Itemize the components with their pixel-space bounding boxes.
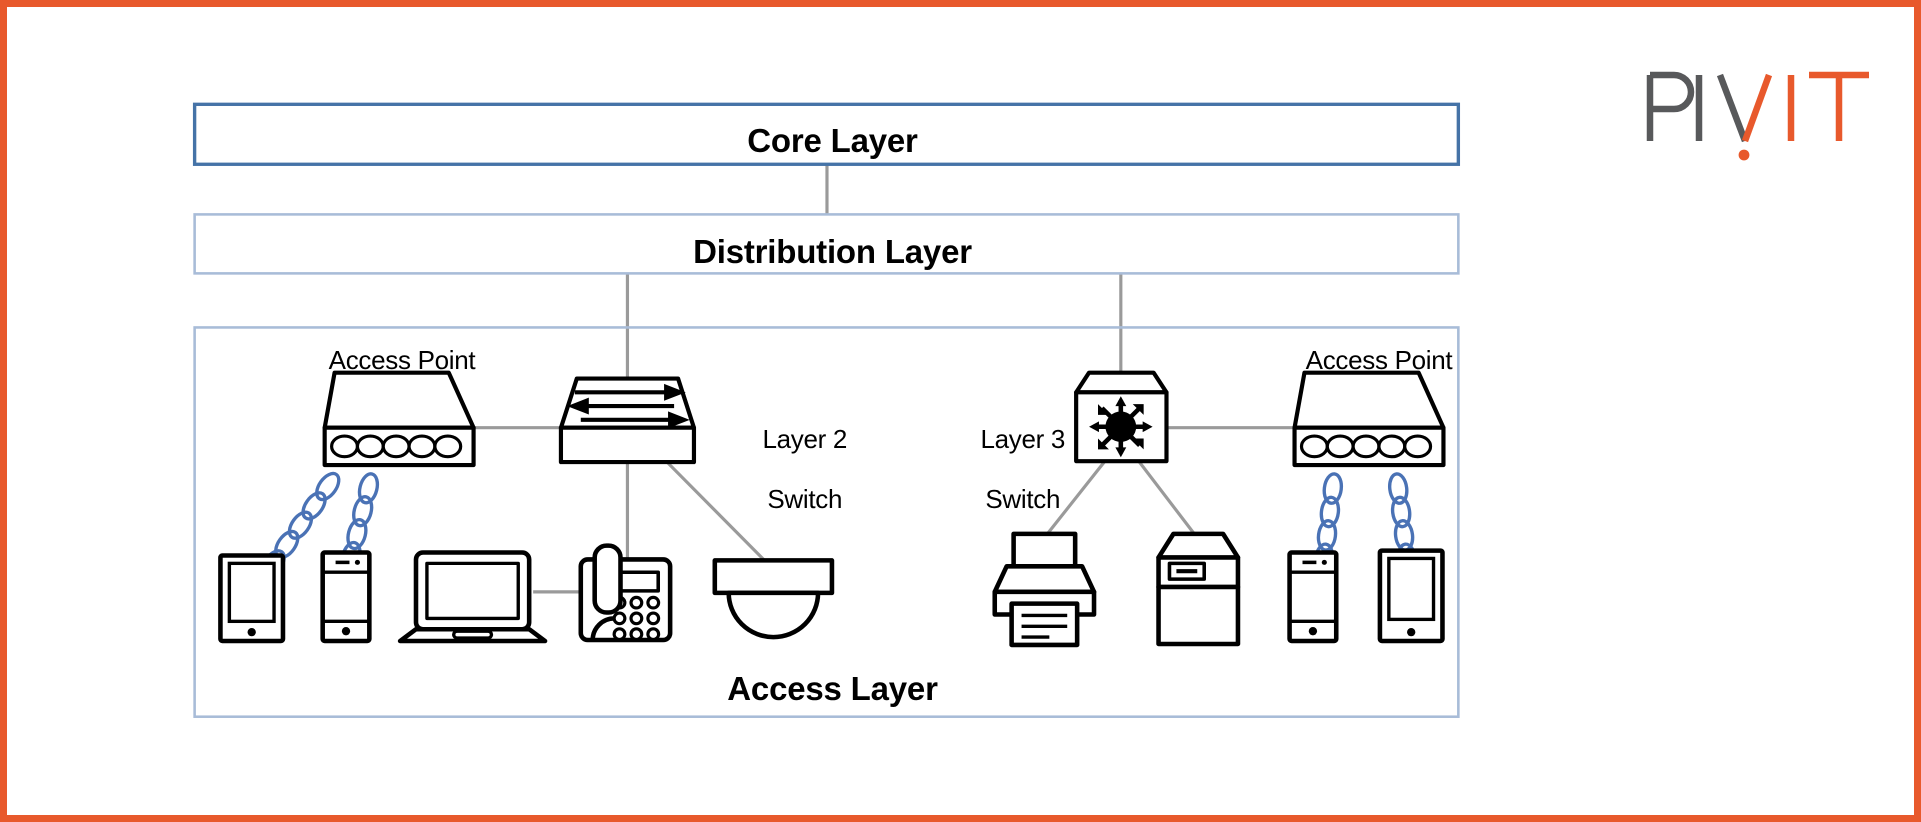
- printer-icon[interactable]: [995, 534, 1094, 645]
- logo-letter-V-right: [1745, 75, 1769, 141]
- layer2-switch-label-line1: Layer 2: [762, 424, 847, 454]
- tablet-icon-right[interactable]: [1380, 551, 1443, 641]
- layer3-switch-label-line1: Layer 3: [980, 424, 1065, 454]
- smartphone-icon-left[interactable]: [323, 553, 370, 641]
- tablet-icon-left[interactable]: [220, 555, 283, 641]
- layer3-switch-label-line2: Switch: [985, 484, 1060, 514]
- pivit-logo[interactable]: [1641, 63, 1891, 163]
- logo-letter-P: [1650, 75, 1691, 141]
- dome-camera-icon[interactable]: [715, 560, 832, 637]
- router-star-icon: [1089, 396, 1153, 457]
- logo-dot: [1739, 150, 1750, 161]
- smartphone-icon-right[interactable]: [1290, 553, 1337, 641]
- link-layer3-server: [1139, 461, 1195, 534]
- diagram-canvas: Core Layer Distribution Layer Access Lay…: [0, 0, 1921, 822]
- layer2-switch-label-line2: Switch: [767, 484, 842, 514]
- access-point-icon-left[interactable]: [325, 373, 474, 465]
- access-point-right-label: Access Point: [1269, 345, 1489, 375]
- logo-letter-T: [1809, 75, 1869, 141]
- access-point-icon-right[interactable]: [1295, 373, 1444, 465]
- distribution-layer-label: Distribution Layer: [196, 233, 1469, 271]
- layer2-switch-label: Layer 2 Switch: [709, 394, 859, 545]
- server-icon[interactable]: [1159, 534, 1238, 644]
- core-layer-label: Core Layer: [196, 122, 1469, 160]
- pivit-logo-svg: [1641, 63, 1891, 163]
- ip-phone-icon[interactable]: [581, 546, 670, 640]
- access-layer-label: Access Layer: [196, 670, 1469, 708]
- diagram-stage: Core Layer Distribution Layer Access Lay…: [7, 7, 1914, 815]
- logo-letter-V-left: [1720, 75, 1745, 141]
- laptop-icon[interactable]: [400, 553, 545, 641]
- access-point-left-label: Access Point: [292, 345, 512, 375]
- layer3-switch-label: Layer 3 Switch: [927, 394, 1077, 545]
